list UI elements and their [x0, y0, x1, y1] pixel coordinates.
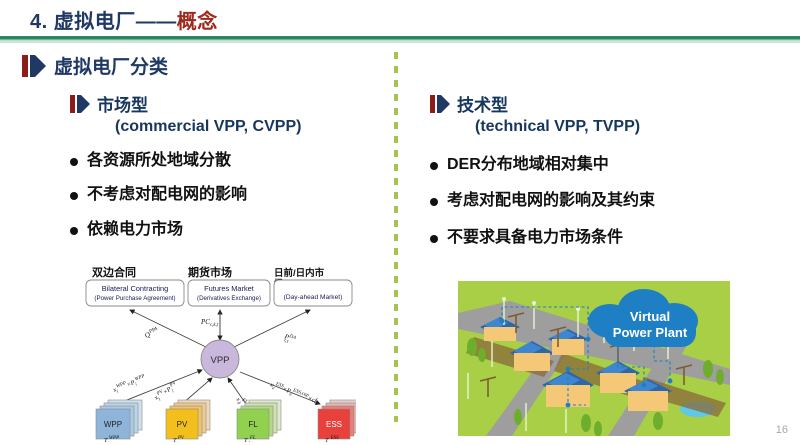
svg-text:WPP: WPP: [104, 420, 122, 429]
slide-root: 4. 虚拟电厂——概念 虚拟电厂分类 市场型 (commercial VPP, …: [0, 0, 800, 445]
list-item: DER分布地域相对集中: [430, 155, 780, 174]
list-item-label: 不要求具备电力市场条件: [447, 228, 623, 247]
diagram-arrow-label-da: PDAt,s: [281, 332, 297, 347]
list-item: 不要求具备电力市场条件: [430, 228, 780, 247]
diagram-arrow-label-ppa: Q ​PPA: [144, 326, 161, 339]
column-right-bullets: DER分布地域相对集中 考虑对配电网的影响及其约束 不要求具备电力市场条件: [430, 155, 780, 247]
bullet-dot-icon: [430, 235, 438, 243]
column-right-heading-text: 技术型 (technical VPP, TVPP): [457, 95, 640, 137]
column-right-heading-en: (technical VPP, TVPP): [457, 117, 640, 137]
diagram-label-cn-0: 双边合同: [92, 265, 136, 279]
diagram-arrow-label-wpp: xiWPP×PiWPP: [111, 374, 147, 395]
page-title: 4. 虚拟电厂——概念: [30, 5, 218, 34]
column-right-heading-cn: 技术型: [457, 96, 508, 115]
diagram-arrow-label-pv: xjPV×PjPV: [152, 380, 180, 403]
diagram-resource-fl: FL: [237, 400, 281, 439]
column-technical-vpp: 技术型 (technical VPP, TVPP) DER分布地域相对集中 考虑…: [430, 95, 780, 264]
svg-text:(Derivatives Exchange): (Derivatives Exchange): [197, 295, 261, 302]
virtual-power-plant-illustration: Virtual Power Plant: [457, 280, 731, 437]
diagram-label-cn-2a: 日前/日内市: [274, 267, 325, 279]
column-left-heading-text: 市场型 (commercial VPP, CVPP): [97, 95, 301, 137]
diagram-sub-wpp: TiWPP: [104, 436, 119, 442]
svg-text:Futures Market: Futures Market: [204, 284, 254, 293]
svg-text:ESS: ESS: [326, 420, 342, 429]
column-left-heading-en: (commercial VPP, CVPP): [97, 117, 301, 137]
column-left-marker-icon: [70, 95, 90, 113]
column-left-heading: 市场型 (commercial VPP, CVPP): [70, 95, 390, 137]
list-item: 考虑对配电网的影响及其约束: [430, 191, 780, 210]
svg-text:(Power Purchase Agreement): (Power Purchase Agreement): [94, 295, 175, 302]
svg-text:(Day-ahead Market): (Day-ahead Market): [284, 294, 343, 301]
svg-text:FL: FL: [248, 420, 258, 429]
diagram-resource-pv: PV: [166, 400, 210, 439]
svg-text:PV: PV: [177, 420, 188, 429]
list-item-label: 考虑对配电网的影响及其约束: [447, 191, 655, 210]
column-left-bullets: 各资源所处地域分散 不考虑对配电网的影响 依赖电力市场: [70, 151, 390, 239]
list-item: 依赖电力市场: [70, 220, 390, 239]
diagram-sub-ess: TeESS: [325, 436, 339, 442]
diagram-box-dayahead: [274, 280, 352, 306]
title-divider-rule-shadow: [0, 41, 800, 43]
diagram-label-cn-1: 期货市场: [188, 265, 232, 279]
bullet-dot-icon: [70, 158, 78, 166]
column-commercial-vpp: 市场型 (commercial VPP, CVPP) 各资源所处地域分散 不考虑…: [70, 95, 390, 254]
bullet-dot-icon: [430, 162, 438, 170]
list-item-label: 依赖电力市场: [87, 220, 183, 239]
section-marker-icon: [22, 55, 46, 77]
vpp-cloud-line2: Power Plant: [613, 325, 688, 340]
diagram-vpp-label: VPP: [210, 355, 229, 366]
diagram-sub-fl: TdFL: [244, 436, 256, 442]
diagram-resource-wpp: WPP: [96, 400, 142, 439]
column-right-heading: 技术型 (technical VPP, TVPP): [430, 95, 780, 137]
list-item: 不考虑对配电网的影响: [70, 185, 390, 204]
list-item-label: 不考虑对配电网的影响: [87, 185, 247, 204]
page-title-accent: 概念: [177, 11, 218, 33]
bullet-dot-icon: [70, 192, 78, 200]
diagram-resource-ess: ESS: [318, 400, 356, 439]
column-right-marker-icon: [430, 95, 450, 113]
bullet-dot-icon: [430, 198, 438, 206]
page-number: 16: [776, 424, 788, 436]
list-item: 各资源所处地域分散: [70, 151, 390, 170]
page-title-main: 4. 虚拟电厂——: [30, 11, 177, 33]
vpp-structure-diagram: 双边合同 期货市场 日前/日内市 场 Bilateral Contracting…: [84, 264, 356, 442]
diagram-arrow-label-pc: PCc,k,t: [200, 318, 219, 328]
diagram-sub-pv: TjPV: [173, 436, 185, 442]
section-header: 虚拟电厂分类: [22, 52, 168, 79]
list-item-label: 各资源所处地域分散: [87, 151, 231, 170]
vpp-cloud-line1: Virtual: [630, 309, 670, 324]
column-divider: [394, 52, 398, 422]
svg-text:Bilateral Contracting: Bilateral Contracting: [102, 284, 169, 293]
bullet-dot-icon: [70, 227, 78, 235]
section-header-label: 虚拟电厂分类: [54, 52, 168, 79]
column-left-heading-cn: 市场型: [97, 96, 148, 115]
list-item-label: DER分布地域相对集中: [447, 155, 609, 174]
